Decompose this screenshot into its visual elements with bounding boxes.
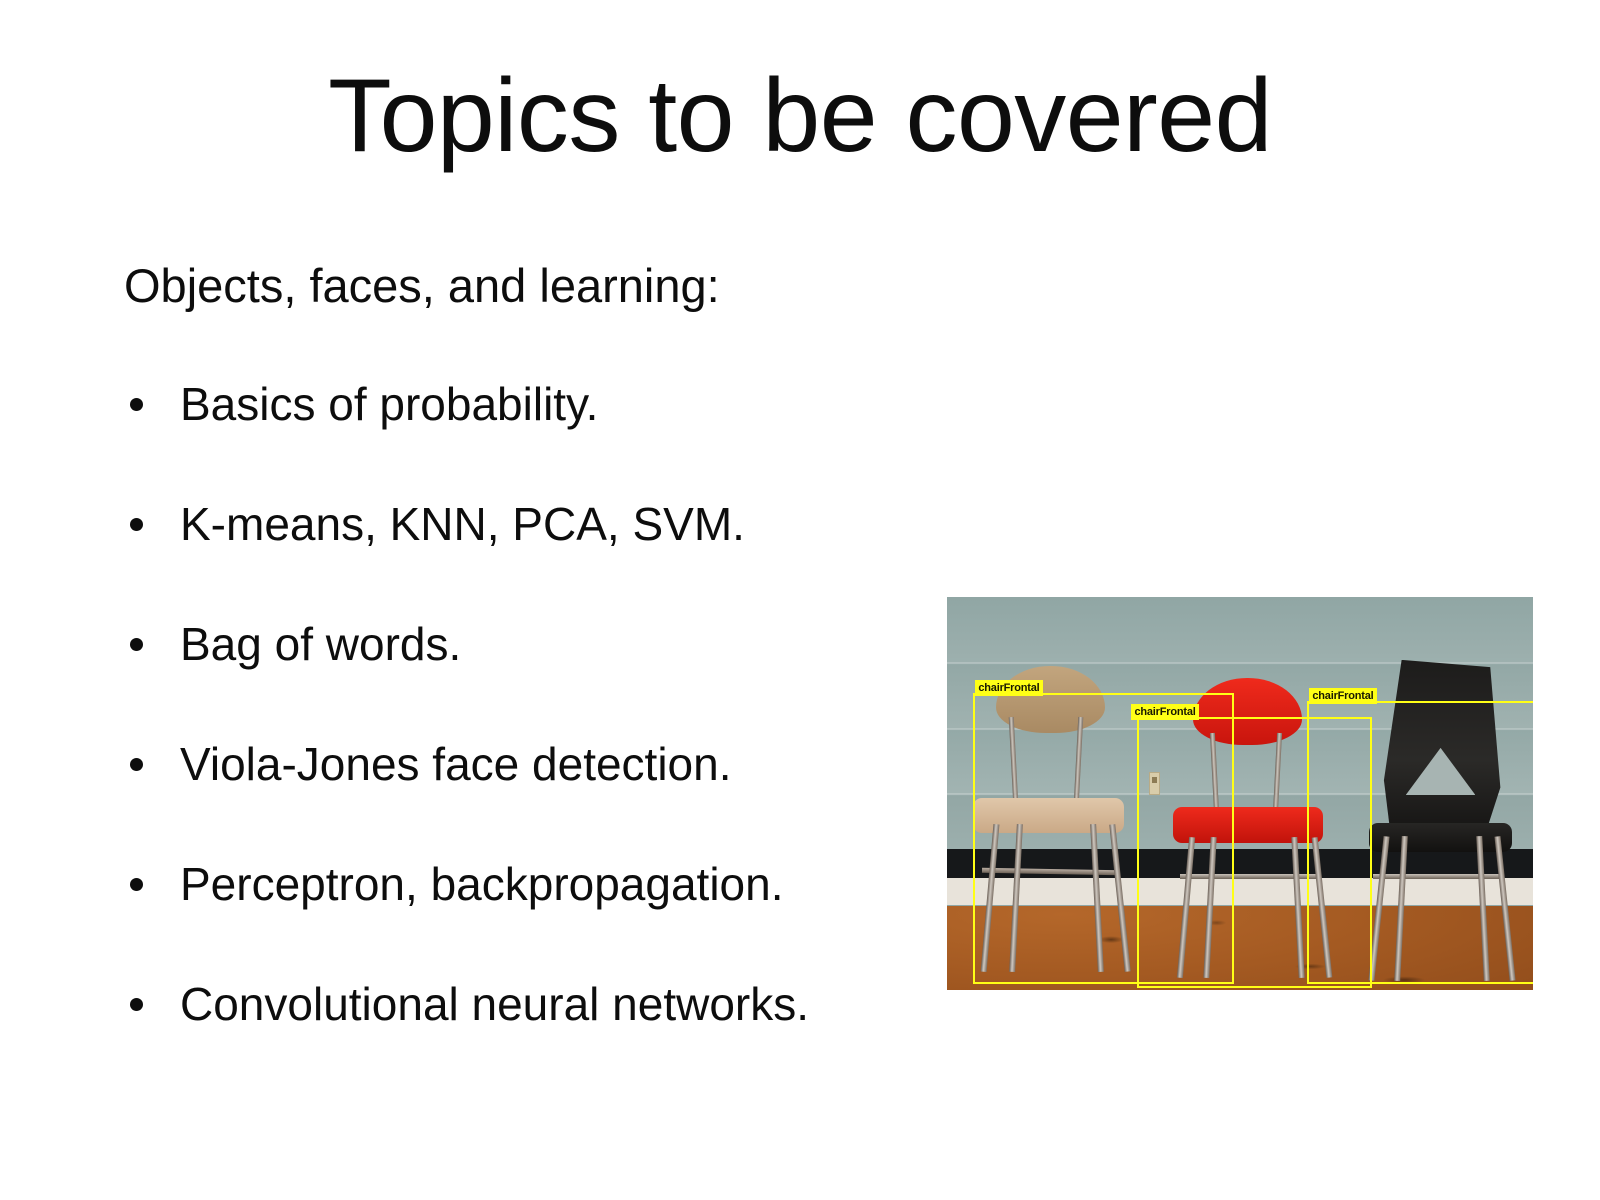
bullet-dot-icon bbox=[130, 998, 143, 1011]
slide-canvas: Topics to be covered Objects, faces, and… bbox=[0, 0, 1600, 1200]
list-item-label: Viola-Jones face detection. bbox=[180, 738, 732, 790]
intro-line: Objects, faces, and learning: bbox=[124, 262, 954, 309]
list-item-label: Bag of words. bbox=[180, 618, 461, 670]
bullet-dot-icon bbox=[130, 758, 143, 771]
list-item-label: Basics of probability. bbox=[180, 378, 598, 430]
slide-body: Objects, faces, and learning: Basics of … bbox=[124, 262, 954, 1027]
list-item: Convolutional neural networks. bbox=[124, 981, 954, 1027]
list-item: Basics of probability. bbox=[124, 381, 954, 427]
detection-label: chairFrontal bbox=[1131, 704, 1198, 720]
bullet-dot-icon bbox=[130, 878, 143, 891]
bullet-dot-icon bbox=[130, 638, 143, 651]
page-title: Topics to be covered bbox=[0, 62, 1600, 171]
list-item: Perceptron, backpropagation. bbox=[124, 861, 954, 907]
detection-label: chairFrontal bbox=[1309, 688, 1376, 704]
bullet-dot-icon bbox=[130, 518, 143, 531]
bullet-dot-icon bbox=[130, 398, 143, 411]
detection-box: chairFrontal bbox=[1307, 701, 1533, 984]
list-item-label: Perceptron, backpropagation. bbox=[180, 858, 784, 910]
list-item-label: K-means, KNN, PCA, SVM. bbox=[180, 498, 745, 550]
chair-detection-image: chairFrontal chairFrontal chairFrontal bbox=[947, 597, 1533, 990]
detection-label: chairFrontal bbox=[975, 680, 1042, 696]
list-item: Bag of words. bbox=[124, 621, 954, 667]
list-item: K-means, KNN, PCA, SVM. bbox=[124, 501, 954, 547]
list-item: Viola-Jones face detection. bbox=[124, 741, 954, 787]
list-item-label: Convolutional neural networks. bbox=[180, 978, 809, 1030]
topics-list: Basics of probability. K-means, KNN, PCA… bbox=[124, 381, 954, 1027]
